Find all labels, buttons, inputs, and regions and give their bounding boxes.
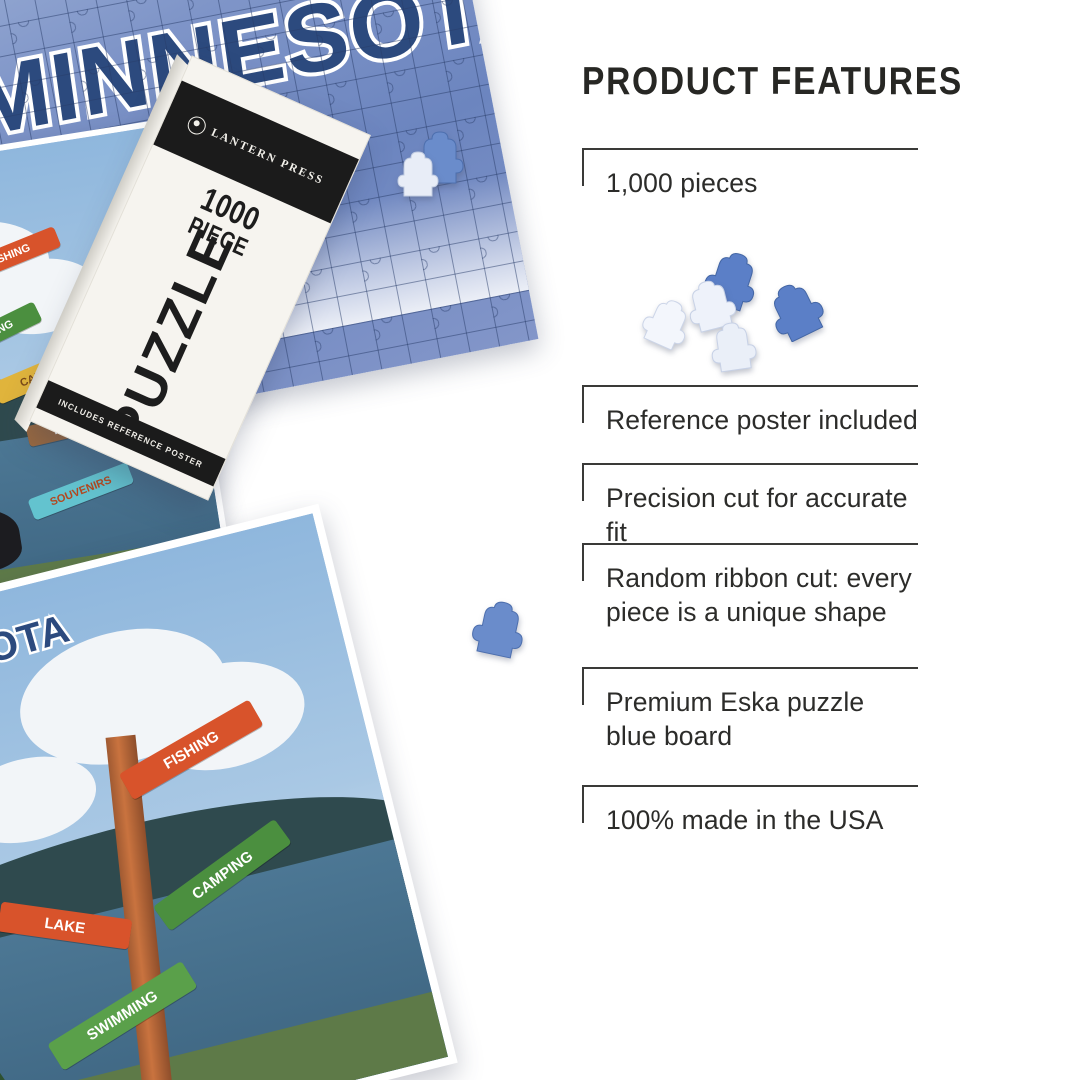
- feature-text: 100% made in the USA: [606, 803, 922, 837]
- feature-text: Premium Eska puzzle blue board: [606, 685, 922, 753]
- feature-tick: [582, 667, 584, 705]
- feature-tick: [582, 543, 584, 581]
- feature-divider: [582, 148, 918, 150]
- feature-tick: [582, 463, 584, 501]
- feature-tick: [582, 385, 584, 423]
- feature-divider: [582, 385, 918, 387]
- puzzle-piece-loose: [468, 598, 530, 660]
- product-feature-graphic: MINNESOTA: [0, 0, 1080, 1080]
- feature-divider: [582, 667, 918, 669]
- puzzle-product-photo: MINNESOTA: [0, 0, 610, 1080]
- feature-text: 1,000 pieces: [606, 166, 922, 200]
- feature-tick: [582, 148, 584, 186]
- poster-artwork: MINNESOTA FISHING LAKE CAMPING SWIMMING: [0, 513, 448, 1080]
- reference-poster-lower: MINNESOTA FISHING LAKE CAMPING SWIMMING: [0, 504, 458, 1080]
- feature-divider: [582, 543, 918, 545]
- feature-tick: [582, 785, 584, 823]
- page-title: PRODUCT FEATURES: [582, 60, 880, 104]
- feature-text: Random ribbon cut: every piece is a uniq…: [606, 561, 922, 629]
- feature-divider: [582, 463, 918, 465]
- feature-divider: [582, 785, 918, 787]
- puzzle-piece-loose: [392, 148, 444, 200]
- feature-text: Precision cut for accurate fit: [606, 481, 922, 549]
- product-features-panel: PRODUCT FEATURES 1,000 pieces Reference …: [578, 60, 928, 880]
- lantern-press-logo-icon: [185, 114, 209, 138]
- feature-text: Reference poster included: [606, 403, 922, 437]
